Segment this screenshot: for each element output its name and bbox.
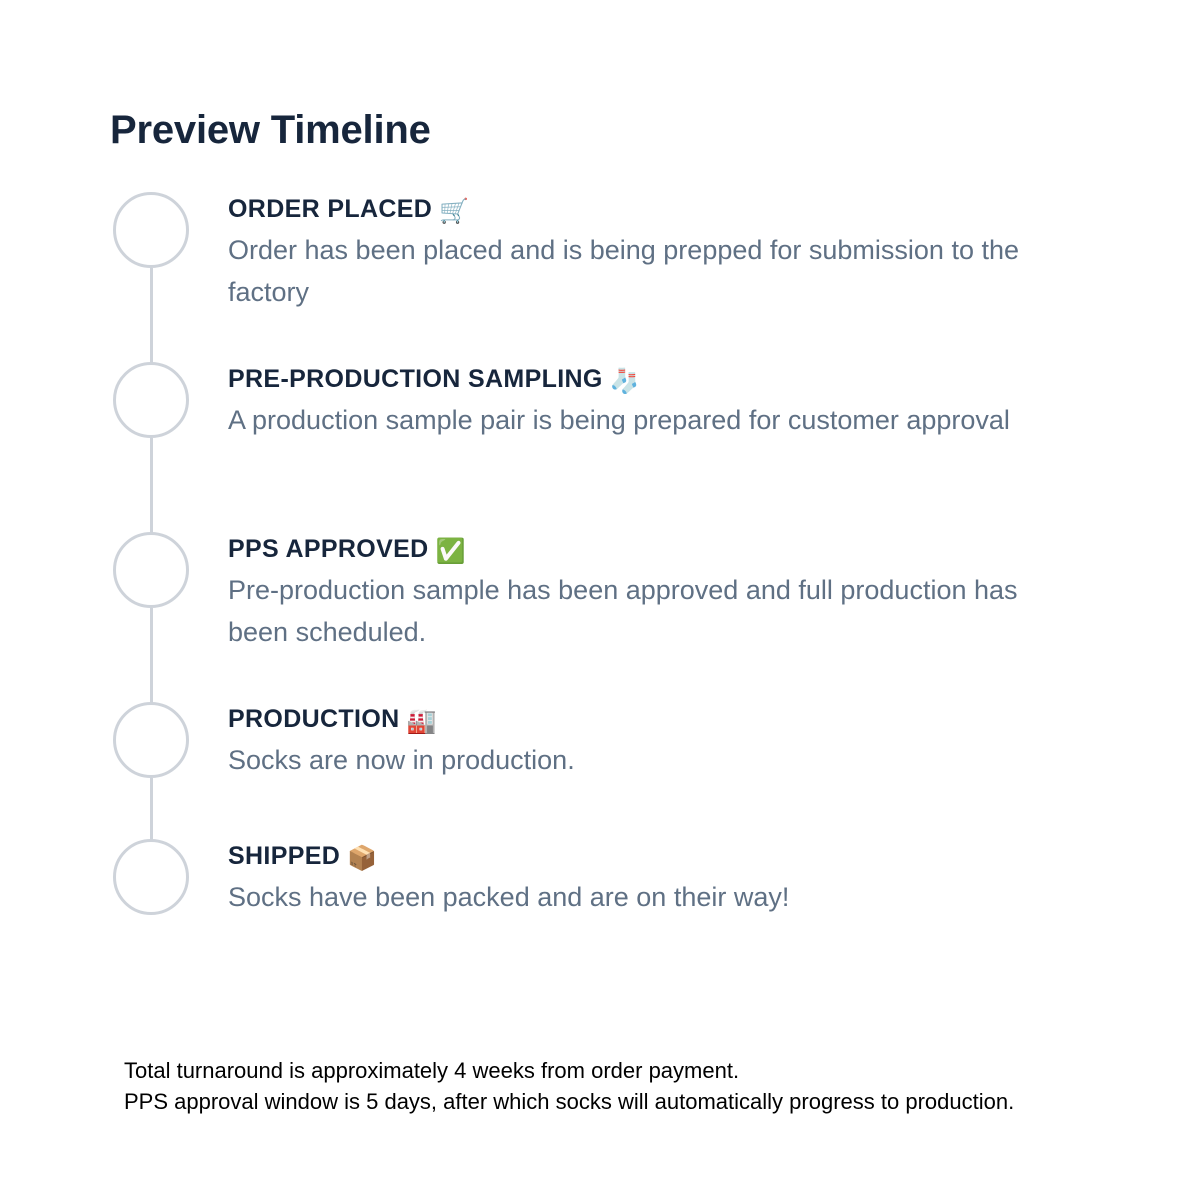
timeline-step-heading: SHIPPED📦 (228, 841, 1110, 873)
timeline-connector-line (150, 438, 153, 536)
socks-icon: 🧦 (610, 366, 640, 396)
timeline-step-circle-icon[interactable] (113, 839, 189, 915)
timeline-step-heading-text: PPS APPROVED (228, 535, 429, 563)
timeline-step-description: Socks have been packed and are on their … (228, 877, 1110, 919)
timeline-step-order-placed[interactable]: ORDER PLACED🛒 Order has been placed and … (110, 188, 1110, 358)
timeline-step-heading-text: PRODUCTION (228, 705, 400, 733)
timeline-step-heading: PRODUCTION🏭 (228, 704, 1110, 736)
timeline-step-pps-approved[interactable]: PPS APPROVED✅ Pre-production sample has … (110, 528, 1110, 698)
timeline-step-description: A production sample pair is being prepar… (228, 400, 1068, 442)
timeline-step-body: PRE-PRODUCTION SAMPLING🧦 A production sa… (228, 358, 1110, 442)
timeline-step-shipped[interactable]: SHIPPED📦 Socks have been packed and are … (110, 835, 1110, 935)
footer-note-turnaround: Total turnaround is approximately 4 week… (124, 1055, 1014, 1086)
timeline-marker-column (110, 188, 228, 268)
timeline-step-heading: PPS APPROVED✅ (228, 534, 1110, 566)
timeline-step-circle-icon[interactable] (113, 362, 189, 438)
factory-icon: 🏭 (407, 706, 437, 736)
timeline-step-heading: ORDER PLACED🛒 (228, 194, 1110, 226)
timeline-marker-column (110, 835, 228, 915)
timeline-step-body: ORDER PLACED🛒 Order has been placed and … (228, 188, 1110, 314)
timeline-step-body: PRODUCTION🏭 Socks are now in production. (228, 698, 1110, 782)
timeline-step-description: Socks are now in production. (228, 740, 1110, 782)
footer-note-pps-window: PPS approval window is 5 days, after whi… (124, 1086, 1014, 1117)
preview-timeline-page: Preview Timeline ORDER PLACED🛒 Order has… (0, 0, 1200, 1200)
timeline-step-description: Pre-production sample has been approved … (228, 570, 1068, 654)
package-icon: 📦 (347, 843, 377, 873)
timeline-step-heading-text: SHIPPED (228, 842, 340, 870)
footer-notes: Total turnaround is approximately 4 week… (124, 1055, 1014, 1117)
timeline-connector-line (150, 778, 153, 843)
timeline-step-description: Order has been placed and is being prepp… (228, 230, 1068, 314)
timeline-marker-column (110, 698, 228, 778)
timeline-step-heading: PRE-PRODUCTION SAMPLING🧦 (228, 364, 1110, 396)
check-mark-button-icon: ✅ (436, 536, 466, 566)
timeline-step-heading-text: ORDER PLACED (228, 195, 432, 223)
timeline-step-circle-icon[interactable] (113, 702, 189, 778)
timeline-connector-line (150, 608, 153, 706)
timeline-marker-column (110, 528, 228, 608)
timeline-step-body: SHIPPED📦 Socks have been packed and are … (228, 835, 1110, 919)
timeline-marker-column (110, 358, 228, 438)
timeline-step-circle-icon[interactable] (113, 532, 189, 608)
shopping-cart-icon: 🛒 (439, 196, 469, 226)
timeline-step-pre-production-sampling[interactable]: PRE-PRODUCTION SAMPLING🧦 A production sa… (110, 358, 1110, 528)
timeline-step-production[interactable]: PRODUCTION🏭 Socks are now in production. (110, 698, 1110, 835)
timeline-connector-line (150, 268, 153, 366)
timeline-step-heading-text: PRE-PRODUCTION SAMPLING (228, 365, 603, 393)
timeline-step-circle-icon[interactable] (113, 192, 189, 268)
page-title: Preview Timeline (110, 108, 431, 152)
timeline-step-body: PPS APPROVED✅ Pre-production sample has … (228, 528, 1110, 654)
timeline-list: ORDER PLACED🛒 Order has been placed and … (110, 188, 1110, 935)
